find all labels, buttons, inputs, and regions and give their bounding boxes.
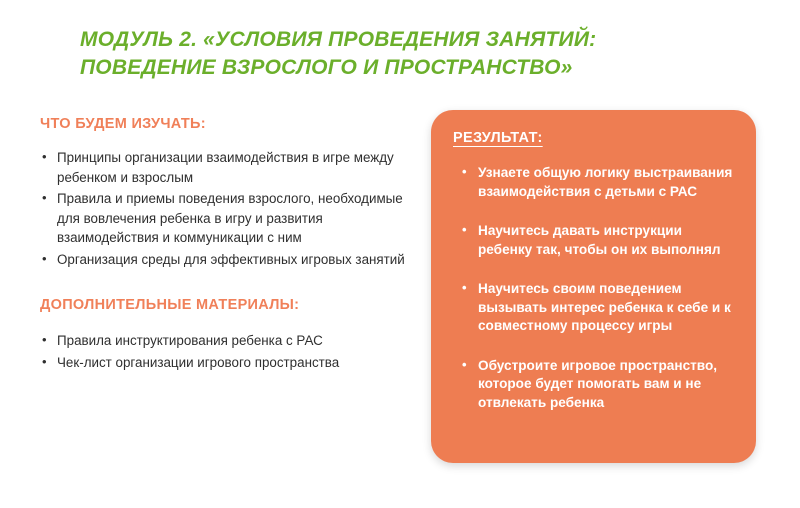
heading-result: РЕЗУЛЬТАТ: (453, 130, 738, 146)
slide-title: МОДУЛЬ 2. «УСЛОВИЯ ПРОВЕДЕНИЯ ЗАНЯТИЙ: П… (80, 26, 680, 82)
slide-canvas: МОДУЛЬ 2. «УСЛОВИЯ ПРОВЕДЕНИЯ ЗАНЯТИЙ: П… (0, 0, 800, 508)
additional-materials-list: Правила инструктирования ребенка с РАС Ч… (40, 331, 418, 372)
list-item: Обустроите игровое пространство, которое… (461, 357, 738, 413)
left-content-column: ЧТО БУДЕМ ИЗУЧАТЬ: Принципы организации … (40, 116, 418, 374)
list-item: Научитесь своим поведением вызывать инте… (461, 280, 738, 336)
list-item: Принципы организации взаимодействия в иг… (40, 148, 418, 187)
list-item: Научитесь давать инструкции ребенку так,… (461, 222, 738, 259)
slide-title-line-2: ПОВЕДЕНИЕ ВЗРОСЛОГО И ПРОСТРАНСТВО» (80, 54, 680, 82)
study-topics-list: Принципы организации взаимодействия в иг… (40, 148, 418, 269)
list-item: Правила инструктирования ребенка с РАС (40, 331, 418, 351)
list-item: Узнаете общую логику выстраивания взаимо… (461, 164, 738, 201)
result-panel: РЕЗУЛЬТАТ: Узнаете общую логику выстраив… (431, 110, 756, 463)
slide-title-line-1: МОДУЛЬ 2. «УСЛОВИЯ ПРОВЕДЕНИЯ ЗАНЯТИЙ: (80, 26, 680, 54)
result-outcomes-list: Узнаете общую логику выстраивания взаимо… (453, 164, 738, 412)
heading-additional-materials: ДОПОЛНИТЕЛЬНЫЕ МАТЕРИАЛЫ: (40, 297, 418, 313)
list-item: Чек-лист организации игрового пространст… (40, 353, 418, 373)
list-item: Правила и приемы поведения взрослого, не… (40, 189, 418, 248)
heading-what-we-study: ЧТО БУДЕМ ИЗУЧАТЬ: (40, 116, 418, 132)
list-item: Организация среды для эффективных игровы… (40, 250, 418, 270)
